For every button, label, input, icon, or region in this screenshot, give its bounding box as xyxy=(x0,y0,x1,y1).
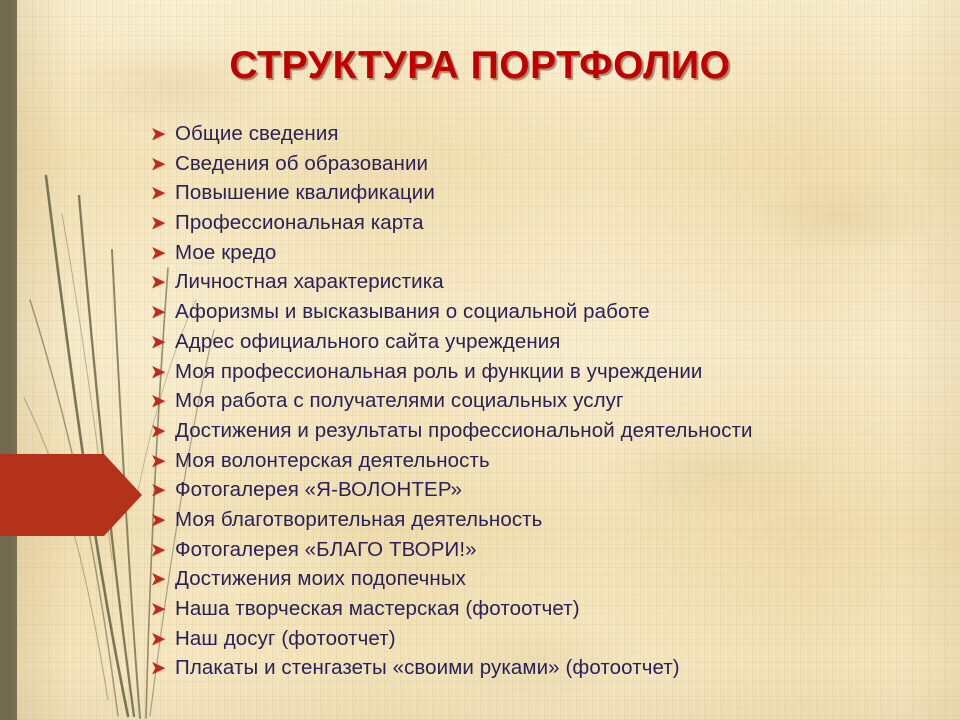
red-arrow-banner xyxy=(0,454,142,536)
list-item-label: Афоризмы и высказывания о социальной раб… xyxy=(175,302,650,323)
arrow-bullet-icon: ➤ xyxy=(150,630,175,649)
arrow-bullet-icon: ➤ xyxy=(150,659,175,678)
list-item-label: Фотогалерея «Я-ВОЛОНТЕР» xyxy=(175,480,462,501)
arrow-bullet-icon: ➤ xyxy=(150,155,175,174)
list-item[interactable]: ➤ Мое кредо xyxy=(150,243,950,273)
list-item[interactable]: ➤ Плакаты и стенгазеты «своими руками» (… xyxy=(150,658,950,688)
arrow-bullet-icon: ➤ xyxy=(150,363,175,382)
arrow-bullet-icon: ➤ xyxy=(150,214,175,233)
list-item[interactable]: ➤ Моя работа с получателями социальных у… xyxy=(150,391,950,421)
list-item[interactable]: ➤ Фотогалерея «БЛАГО ТВОРИ!» xyxy=(150,540,950,570)
list-item-label: Повышение квалификации xyxy=(175,183,435,204)
list-item-label: Моя работа с получателями социальных усл… xyxy=(175,391,624,412)
list-item[interactable]: ➤ Профессиональная карта xyxy=(150,213,950,243)
arrow-bullet-icon: ➤ xyxy=(150,244,175,263)
list-item-label: Профессиональная карта xyxy=(175,213,424,234)
list-item-label: Сведения об образовании xyxy=(175,154,428,175)
arrow-bullet-icon: ➤ xyxy=(150,600,175,619)
arrow-bullet-icon: ➤ xyxy=(150,303,175,322)
list-item-label: Достижения и результаты профессиональной… xyxy=(175,421,753,442)
slide-title: СТРУКТУРА ПОРТФОЛИО xyxy=(0,44,960,88)
arrow-bullet-icon: ➤ xyxy=(150,452,175,471)
arrow-bullet-icon: ➤ xyxy=(150,333,175,352)
arrow-bullet-icon: ➤ xyxy=(150,422,175,441)
list-item[interactable]: ➤ Повышение квалификации xyxy=(150,183,950,213)
list-item[interactable]: ➤ Моя благотворительная деятельность xyxy=(150,510,950,540)
list-item[interactable]: ➤ Общие сведения xyxy=(150,124,950,154)
list-item-label: Адрес официального сайта учреждения xyxy=(175,332,561,353)
list-item-label: Моя волонтерская деятельность xyxy=(175,451,490,472)
list-item-label: Моя благотворительная деятельность xyxy=(175,510,542,531)
list-item[interactable]: ➤ Фотогалерея «Я-ВОЛОНТЕР» xyxy=(150,480,950,510)
list-item-label: Наш досуг (фотоотчет) xyxy=(175,629,396,650)
list-item-label: Мое кредо xyxy=(175,243,276,264)
list-item[interactable]: ➤ Личностная характеристика xyxy=(150,272,950,302)
arrow-bullet-icon: ➤ xyxy=(150,125,175,144)
arrow-bullet-icon: ➤ xyxy=(150,392,175,411)
arrow-bullet-icon: ➤ xyxy=(150,541,175,560)
list-item-label: Личностная характеристика xyxy=(175,272,444,293)
list-item[interactable]: ➤ Наша творческая мастерская (фотоотчет) xyxy=(150,599,950,629)
list-item-label: Наша творческая мастерская (фотоотчет) xyxy=(175,599,580,620)
arrow-bullet-icon: ➤ xyxy=(150,273,175,292)
arrow-bullet-icon: ➤ xyxy=(150,511,175,530)
list-item-label: Плакаты и стенгазеты «своими руками» (фо… xyxy=(175,658,680,679)
arrow-bullet-icon: ➤ xyxy=(150,570,175,589)
list-item[interactable]: ➤ Достижения и результаты профессиональн… xyxy=(150,421,950,451)
list-item[interactable]: ➤ Наш досуг (фотоотчет) xyxy=(150,629,950,659)
list-item[interactable]: ➤ Моя волонтерская деятельность xyxy=(150,451,950,481)
list-item-label: Достижения моих подопечных xyxy=(175,569,466,590)
arrow-bullet-icon: ➤ xyxy=(150,184,175,203)
list-item[interactable]: ➤ Адрес официального сайта учреждения xyxy=(150,332,950,362)
list-item-label: Общие сведения xyxy=(175,124,339,145)
list-item[interactable]: ➤ Моя профессиональная роль и функции в … xyxy=(150,362,950,392)
list-item[interactable]: ➤ Достижения моих подопечных xyxy=(150,569,950,599)
portfolio-structure-list: ➤ Общие сведения ➤ Сведения об образован… xyxy=(150,124,950,688)
list-item[interactable]: ➤ Сведения об образовании xyxy=(150,154,950,184)
list-item[interactable]: ➤ Афоризмы и высказывания о социальной р… xyxy=(150,302,950,332)
arrow-bullet-icon: ➤ xyxy=(150,481,175,500)
list-item-label: Моя профессиональная роль и функции в уч… xyxy=(175,362,702,383)
presentation-slide: СТРУКТУРА ПОРТФОЛИО ➤ Общие сведения ➤ С… xyxy=(0,0,960,720)
list-item-label: Фотогалерея «БЛАГО ТВОРИ!» xyxy=(175,540,477,561)
